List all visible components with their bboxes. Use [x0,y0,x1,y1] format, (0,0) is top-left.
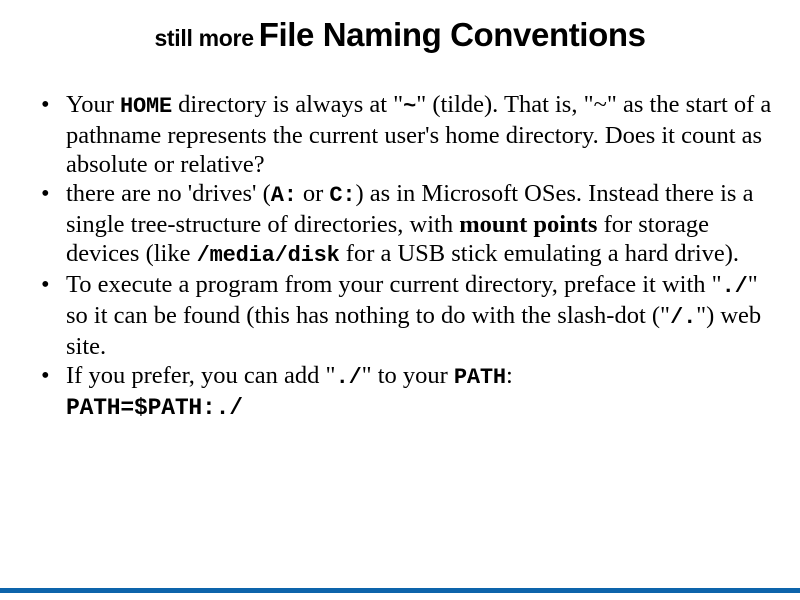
body-text: " to your [362,362,454,389]
slide-canvas: still moreFile Naming Conventions •Your … [0,0,800,600]
emphasized-text: mount points [459,211,597,238]
bullet-dot-icon: • [41,179,50,208]
body-text: If you prefer, you can add " [66,362,336,389]
body-text: : [506,362,513,389]
inline-code: PATH [454,365,506,390]
inline-code: C: [329,183,355,208]
code-line-text: PATH=$PATH:./ [66,395,243,421]
body-text: To execute a program from your current d… [66,271,722,298]
body-text: directory is always at " [172,91,403,118]
inline-code: /. [670,305,696,330]
code-line: PATH=$PATH:./ [34,392,779,423]
bullet-dot-icon: • [41,90,50,119]
inline-code: ~ [403,94,416,119]
footer-accent-bar [0,588,800,593]
inline-code: A: [271,183,297,208]
inline-code: /media/disk [197,243,340,268]
list-item: •To execute a program from your current … [34,270,779,361]
bullet-dot-icon: • [41,270,50,299]
page-title: still moreFile Naming Conventions [0,18,800,51]
body-text: or [297,180,330,207]
inline-code: ./ [336,365,362,390]
inline-code: ./ [722,274,748,299]
inline-code: HOME [120,94,172,119]
list-item: •there are no 'drives' (A: or C:) as in … [34,179,779,270]
body-text: for a USB stick emulating a hard drive). [340,240,739,267]
bullet-list: •Your HOME directory is always at "~" (t… [34,90,779,423]
body-text: there are no 'drives' ( [66,180,271,207]
bullet-dot-icon: • [41,361,50,390]
title-main: File Naming Conventions [259,16,646,53]
title-prefix: still more [154,25,253,51]
list-item: •If you prefer, you can add "./" to your… [34,361,779,392]
body-text: Your [66,91,120,118]
list-item: •Your HOME directory is always at "~" (t… [34,90,779,179]
